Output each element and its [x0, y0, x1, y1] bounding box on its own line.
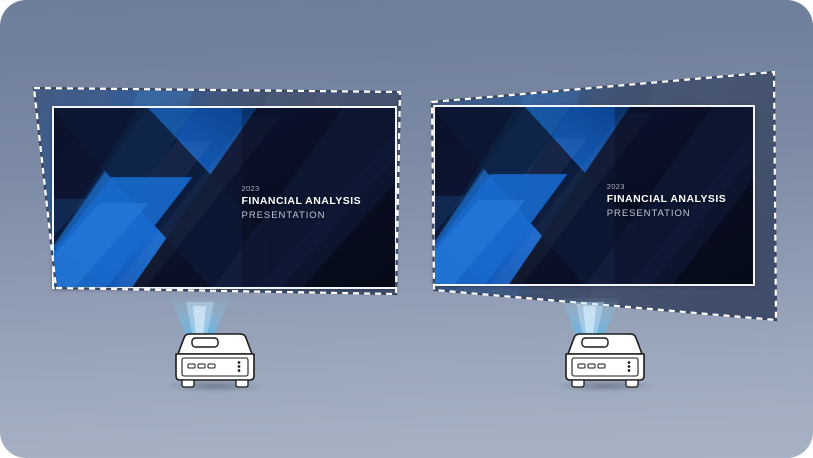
projector-body-left[interactable] [160, 296, 270, 396]
slide-title-left: FINANCIAL ANALYSIS [242, 195, 362, 209]
scene-canvas: 2023 FINANCIAL ANALYSIS PRESENTATION [0, 0, 813, 458]
slide-subtitle-right: PRESENTATION [607, 208, 727, 221]
slide-left: 2023 FINANCIAL ANALYSIS PRESENTATION [54, 108, 395, 287]
projector-right[interactable] [550, 296, 660, 396]
projector-left[interactable] [160, 296, 270, 396]
slide-frame-right[interactable]: 2023 FINANCIAL ANALYSIS PRESENTATION [433, 105, 755, 286]
slide-right: 2023 FINANCIAL ANALYSIS PRESENTATION [435, 107, 753, 284]
slide-frame-left[interactable]: 2023 FINANCIAL ANALYSIS PRESENTATION [52, 106, 397, 289]
projected-screen-right[interactable]: 2023 FINANCIAL ANALYSIS PRESENTATION [424, 66, 790, 328]
slide-text-left: 2023 FINANCIAL ANALYSIS PRESENTATION [242, 184, 362, 222]
slide-year-left: 2023 [242, 184, 362, 194]
slide-title-right: FINANCIAL ANALYSIS [607, 193, 727, 207]
projector-body-right[interactable] [550, 296, 660, 396]
slide-subtitle-left: PRESENTATION [242, 209, 362, 222]
slide-text-right: 2023 FINANCIAL ANALYSIS PRESENTATION [607, 182, 727, 220]
projected-screen-left[interactable]: 2023 FINANCIAL ANALYSIS PRESENTATION [22, 82, 412, 312]
slide-year-right: 2023 [607, 182, 727, 192]
